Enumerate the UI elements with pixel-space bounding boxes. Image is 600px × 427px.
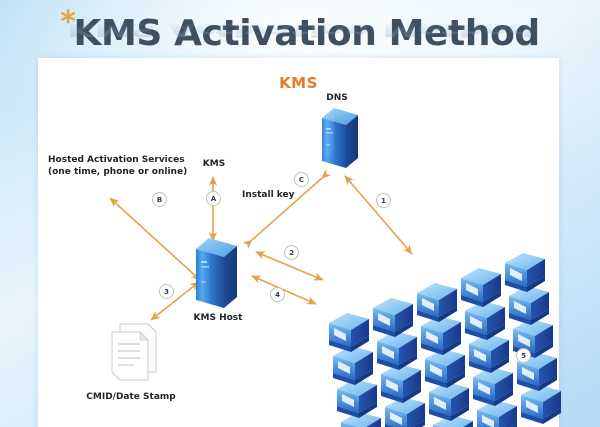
page-title-label: KMS Activation Method (73, 13, 539, 54)
client-computer-icon (521, 385, 561, 424)
client-computers-grid-icon (323, 251, 568, 427)
client-computer-icon (329, 313, 369, 352)
kms-activation-diagram: Hosted Activation Services (one time, ph… (38, 58, 559, 427)
cmid-document-icon (112, 324, 156, 380)
arrow-c-dns-registration (252, 178, 322, 240)
client-computer-icon (469, 334, 509, 373)
badge-3: 3 (159, 284, 174, 299)
slide-canvas: *KMS Activation Method KMS Activation Me… (0, 0, 600, 427)
badge-c: C (294, 172, 309, 187)
kms-source-label: KMS (190, 158, 238, 170)
client-grid-svg (323, 251, 568, 427)
client-computer-icon (417, 283, 457, 322)
page-title: *KMS Activation Method (0, 8, 600, 52)
client-computer-icon (473, 367, 513, 406)
dns-label: DNS (313, 92, 361, 104)
client-computer-icon (509, 286, 549, 325)
badge-4: 4 (270, 287, 285, 302)
badge-2: 2 (284, 245, 299, 260)
badge-a: A (206, 191, 221, 206)
badge-1: 1 (376, 193, 391, 208)
client-computer-icon (421, 316, 461, 355)
cmid-date-stamp-label: CMID/Date Stamp (76, 391, 186, 403)
kms-host-server-icon (196, 238, 237, 308)
client-computer-icon (333, 346, 373, 385)
client-computer-icon (465, 301, 505, 340)
badge-5: 5 (516, 348, 531, 363)
page-title-text: *KMS Activation Method (60, 8, 540, 52)
client-computer-icon (429, 382, 469, 421)
asterisk-bullet-icon: * (60, 5, 75, 40)
install-key-label: Install key (242, 189, 295, 201)
content-panel: KMS (38, 58, 559, 427)
client-computer-icon (381, 364, 421, 403)
client-computer-icon (425, 349, 465, 388)
arrow-1-dns-client-query (345, 176, 412, 254)
badge-b: B (152, 192, 167, 207)
dns-server-icon (322, 108, 358, 168)
client-computer-icon (373, 298, 413, 337)
arrow-b-hosted-activation (110, 198, 200, 280)
client-computer-icon (377, 331, 417, 370)
client-computer-icon (505, 253, 545, 292)
kms-host-label: KMS Host (178, 312, 258, 324)
client-computer-icon (337, 379, 377, 418)
hosted-activation-services-label: Hosted Activation Services (one time, ph… (48, 154, 187, 178)
page-title-reflection: KMS Activation Method (0, 19, 600, 40)
client-computer-icon (461, 268, 501, 307)
